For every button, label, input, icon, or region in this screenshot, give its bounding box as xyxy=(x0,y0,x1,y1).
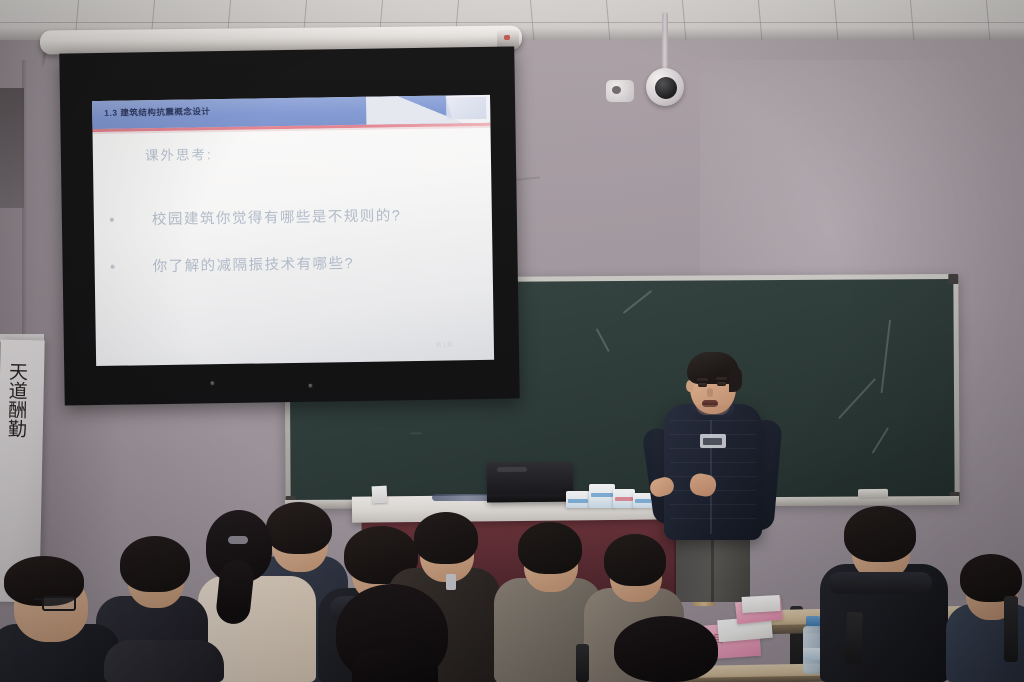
chair-back xyxy=(576,644,589,682)
student-torso xyxy=(104,640,224,682)
lecturer-eye-right xyxy=(717,382,726,386)
trouser-seam xyxy=(711,540,714,602)
projection-screen: 1.3 建筑结构抗震概念设计 课外思考: 校园建筑你觉得有哪些是不规则的? 你了… xyxy=(59,46,519,405)
lecturer-nose xyxy=(707,388,713,397)
screen-indicator xyxy=(504,35,510,40)
monitor-stand xyxy=(487,494,573,503)
student-hair xyxy=(120,536,190,592)
lanyard-badge xyxy=(446,574,456,590)
slide-bullet-2: 你了解的减隔振技术有哪些? xyxy=(106,250,486,277)
slide-subtitle: 课外思考: xyxy=(145,143,213,164)
slide-bullet-1: 校园建筑你觉得有哪些是不规则的? xyxy=(106,203,486,230)
slide-surface: 1.3 建筑结构抗震概念设计 课外思考: 校园建筑你觉得有哪些是不规则的? 你了… xyxy=(92,95,494,366)
glasses-icon xyxy=(42,596,76,611)
slide-footer: 第1章 xyxy=(435,339,453,348)
monitor-glare xyxy=(497,467,527,472)
jacket-logo-detail xyxy=(703,438,722,445)
student-hair xyxy=(614,616,718,682)
camera-conduit xyxy=(662,12,668,74)
slide-bullet-text: 你了解的减隔振技术有哪些? xyxy=(152,252,354,276)
lecturer-chin-shadow xyxy=(696,405,730,415)
student-hair xyxy=(414,512,478,564)
student-hair xyxy=(266,502,332,554)
camera-lens xyxy=(655,77,677,99)
lecturer-eyebrow-left xyxy=(697,378,708,381)
left-dark-object xyxy=(0,88,24,208)
slide-bullet-text: 校园建筑你觉得有哪些是不规则的? xyxy=(152,204,402,229)
banner-text: 天道酬勤 xyxy=(1,362,33,439)
jacket-zipper xyxy=(710,412,712,534)
supply-box xyxy=(566,491,590,508)
glasses-temple xyxy=(34,598,44,600)
student-hair xyxy=(604,534,666,586)
jacket-collar xyxy=(828,572,932,594)
camera-mount-detail xyxy=(612,86,621,94)
bullet-dot-icon xyxy=(110,218,114,222)
chair-back xyxy=(1004,596,1018,662)
lecturer-eyebrow-right xyxy=(716,377,727,380)
chair-back xyxy=(845,612,863,665)
supply-box xyxy=(589,484,615,508)
lecture-hall-photo: 天道酬勤 1.3 建筑结构抗震概念设计 xyxy=(0,0,1024,682)
slide-title: 1.3 建筑结构抗震概念设计 xyxy=(104,105,210,119)
student-hair xyxy=(960,554,1022,602)
slide-corner-graphic xyxy=(446,97,486,120)
hair-tie xyxy=(228,536,248,544)
student-hair xyxy=(518,522,582,574)
supply-box xyxy=(613,489,635,508)
student-hair xyxy=(844,506,916,562)
board-eraser xyxy=(858,489,888,499)
bullet-dot-icon xyxy=(111,265,115,269)
lecturer-jacket xyxy=(664,404,762,540)
tissue-box xyxy=(742,595,781,613)
lecturer-eye-left xyxy=(698,383,707,387)
name-card xyxy=(372,486,388,504)
lecturer-hair-side xyxy=(729,366,742,392)
student-hair-lower xyxy=(352,650,438,682)
